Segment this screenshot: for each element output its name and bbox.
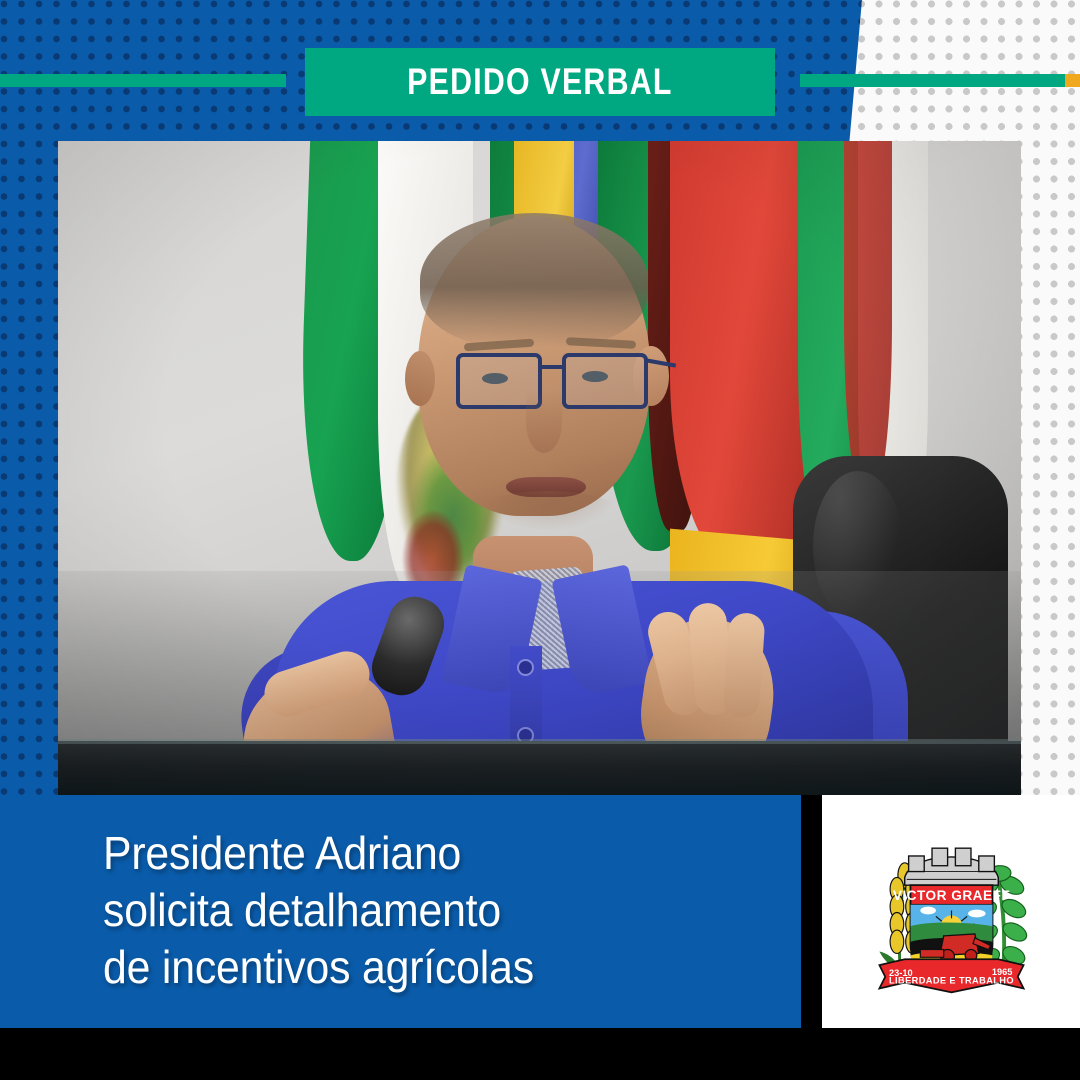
headline-line-1: Presidente Adriano [103, 825, 717, 882]
headline-line-3: de incentivos agrícolas [103, 939, 717, 996]
news-photo: CÂMARA DE VEREADORES VICTOR GRAEFF-RS [58, 141, 1021, 796]
bottom-black-bar [0, 1028, 1080, 1080]
header-accent-bar-right-tip [1065, 74, 1080, 87]
ribbon-right-text: 1965 [991, 966, 1012, 976]
coat-of-arms-svg: VICTOR GRAEFF 23-10 LIBERDADE E TRABALHO… [854, 817, 1049, 1007]
header-badge-label: PEDIDO VERBAL [407, 61, 672, 103]
panel-gap [801, 795, 822, 1028]
mural-crown-icon [904, 848, 998, 885]
header-accent-bar-left [0, 74, 286, 87]
shield-title-text: VICTOR GRAEFF [892, 887, 1009, 902]
ribbon-center-text: LIBERDADE E TRABALHO [889, 975, 1014, 985]
ribbon: 23-10 LIBERDADE E TRABALHO 1965 [879, 959, 1023, 992]
header-badge: PEDIDO VERBAL [305, 48, 775, 116]
caption-panel: Presidente Adriano solicita detalhamento… [0, 795, 801, 1028]
header-accent-bar-right [800, 74, 1065, 87]
logo-container: VICTOR GRAEFF 23-10 LIBERDADE E TRABALHO… [822, 795, 1080, 1028]
headline: Presidente Adriano solicita detalhamento… [103, 825, 717, 996]
headline-line-2: solicita detalhamento [103, 882, 717, 939]
coat-of-arms-victor-graeff: VICTOR GRAEFF 23-10 LIBERDADE E TRABALHO… [854, 817, 1049, 1007]
photo-vignette [58, 141, 1021, 796]
social-post-canvas: PEDIDO VERBAL [0, 0, 1080, 1080]
